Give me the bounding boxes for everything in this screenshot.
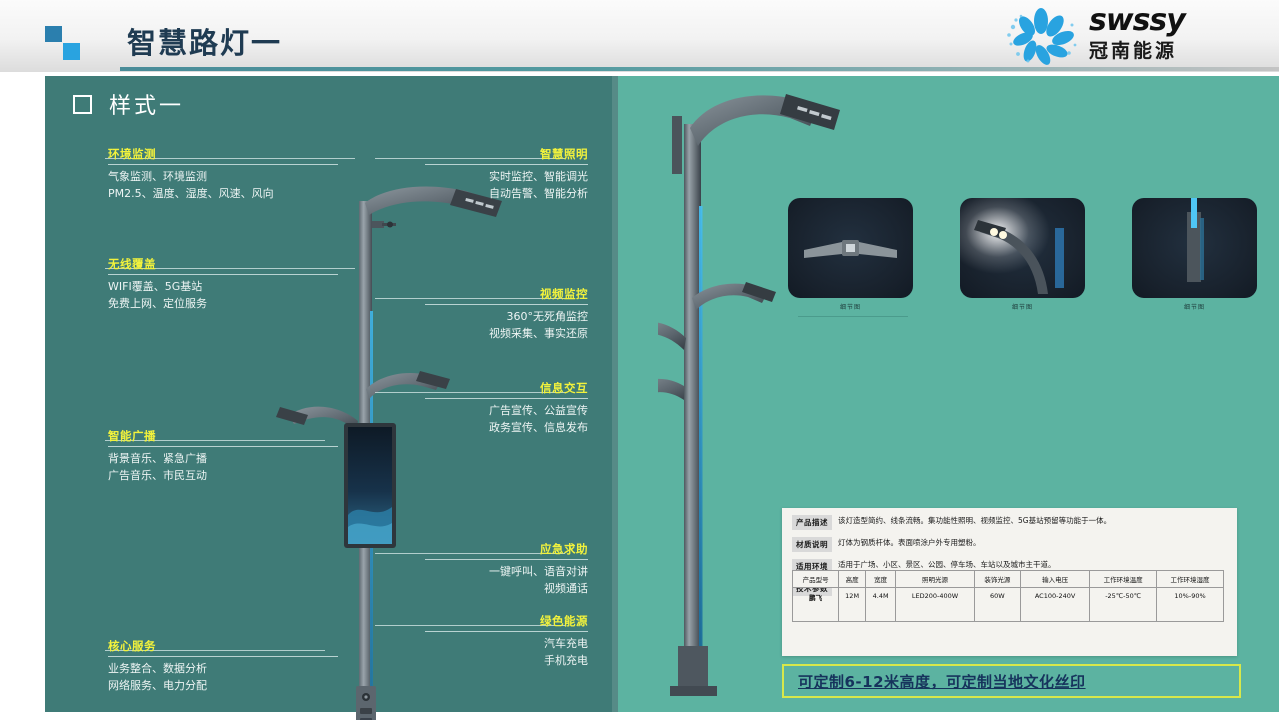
callout-body: 气象监测、环境监测 PM2.5、温度、湿度、风速、风向: [108, 168, 338, 202]
thumbnail-caption-2: 细节图: [960, 302, 1085, 311]
callout-rule: [425, 164, 588, 165]
callout-rule: [425, 398, 588, 399]
callout-line: 360°无死角监控: [425, 308, 588, 325]
callout-body: 实时监控、智能调光 自动告警、智能分析: [425, 168, 588, 202]
callout-emergency-help[interactable]: 应急求助 一键呼叫、语音对讲 视频通话: [425, 541, 588, 597]
callout-rule: [425, 559, 588, 560]
callout-line: 业务整合、数据分析: [108, 660, 338, 677]
thumbnail-image-1[interactable]: [788, 198, 913, 298]
callout-core-service[interactable]: 核心服务 业务整合、数据分析 网络服务、电力分配: [108, 638, 338, 694]
decor-square-2: [63, 43, 80, 60]
table-header-cell: 输入电压: [1020, 571, 1089, 588]
callout-line: 免费上网、定位服务: [108, 295, 338, 312]
table-cell-decor-light: 60W: [974, 588, 1020, 622]
callout-line: 实时监控、智能调光: [425, 168, 588, 185]
table-header-cell: 宽度: [866, 571, 896, 588]
callout-rule: [108, 274, 338, 275]
callout-line: 一键呼叫、语音对讲: [425, 563, 588, 580]
callout-line: WIFI覆盖、5G基站: [108, 278, 338, 295]
callout-title: 环境监测: [108, 146, 338, 162]
table-cell-voltage: AC100-240V: [1020, 588, 1089, 622]
table-cell-temperature: -25℃-50℃: [1090, 588, 1157, 622]
callout-title: 无线覆盖: [108, 256, 338, 272]
thumbnail-image-2[interactable]: [960, 198, 1085, 298]
callout-title: 核心服务: [108, 638, 338, 654]
callout-body: 广告宣传、公益宣传 政务宣传、信息发布: [425, 402, 588, 436]
square-bullet-icon: [73, 95, 92, 114]
callout-body: 背景音乐、紧急广播 广告音乐、市民互动: [108, 450, 338, 484]
page-title: 智慧路灯一: [127, 20, 282, 62]
decor-square-1: [45, 26, 62, 42]
thumbnail-caption-3: 细节图: [1132, 302, 1257, 311]
spec-row-material: 材质说明 灯体为钢质杆体。表面喷涂户外专用塑粉。: [792, 537, 1237, 552]
callout-title: 应急求助: [425, 541, 588, 557]
spec-text: 灯体为钢质杆体。表面喷涂户外专用塑粉。: [838, 537, 981, 548]
callout-line: 广告宣传、公益宣传: [425, 402, 588, 419]
callout-line: 手机充电: [425, 652, 588, 669]
table-cell-width: 4.4M: [866, 588, 896, 622]
callout-title: 信息交互: [425, 380, 588, 396]
callout-title: 智能广播: [108, 428, 338, 444]
spec-text: 该灯造型简约、线条流畅。集功能性照明、视频监控、5G基站预留等功能于一体。: [838, 515, 1111, 526]
callout-body: 业务整合、数据分析 网络服务、电力分配: [108, 660, 338, 694]
logo-droplet-icon: [997, 7, 1085, 65]
callout-line: 自动告警、智能分析: [425, 185, 588, 202]
table-header-cell: 工作环境湿度: [1157, 571, 1224, 588]
left-panel: 样式一: [45, 76, 618, 712]
header-decoration-squares: [45, 26, 89, 60]
spec-row-description: 产品描述 该灯造型简约、线条流畅。集功能性照明、视频监控、5G基站预留等功能于一…: [792, 515, 1237, 530]
callout-line: 背景音乐、紧急广播: [108, 450, 338, 467]
slide-root: 智慧路灯一: [0, 0, 1279, 720]
section-title: 样式一: [109, 88, 184, 120]
callout-wireless-coverage[interactable]: 无线覆盖 WIFI覆盖、5G基站 免费上网、定位服务: [108, 256, 338, 312]
callout-line: 气象监测、环境监测: [108, 168, 338, 185]
detail-thumbnails: 细节图 细节图 细节图: [788, 198, 1258, 308]
table-header-cell: 装饰光源: [974, 571, 1020, 588]
callout-line: 汽车充电: [425, 635, 588, 652]
thumbnail-caption-1: 细节图: [788, 302, 913, 311]
callout-rule: [108, 656, 338, 657]
specification-table: 产品型号 高度 宽度 照明光源 装饰光源 输入电压 工作环境温度 工作环境湿度 …: [792, 570, 1224, 622]
logo-text-block: swssy 冠南能源: [1089, 6, 1185, 64]
specification-card: 产品描述 该灯造型简约、线条流畅。集功能性照明、视频监控、5G基站预留等功能于一…: [782, 508, 1237, 656]
table-header-cell: 高度: [839, 571, 866, 588]
table-cell-humidity: 10%-90%: [1157, 588, 1224, 622]
callout-title: 绿色能源: [425, 613, 588, 629]
callout-video-surveillance[interactable]: 视频监控 360°无死角监控 视频采集、事实还原: [425, 286, 588, 342]
callout-line: 广告音乐、市民互动: [108, 467, 338, 484]
spec-text: 适用于广场、小区、景区、公园、停车场、车站以及城市主干道。: [838, 559, 1056, 570]
callout-rule: [108, 446, 338, 447]
spec-tag: 产品描述: [792, 515, 832, 530]
table-header-row: 产品型号 高度 宽度 照明光源 装饰光源 输入电压 工作环境温度 工作环境湿度: [793, 571, 1224, 588]
table-cell-height: 12M: [839, 588, 866, 622]
logo-brand-name: swssy: [1089, 6, 1185, 36]
callout-title: 视频监控: [425, 286, 588, 302]
callout-line: 视频采集、事实还原: [425, 325, 588, 342]
callout-body: 360°无死角监控 视频采集、事实还原: [425, 308, 588, 342]
callout-smart-broadcast[interactable]: 智能广播 背景音乐、紧急广播 广告音乐、市民互动: [108, 428, 338, 484]
customization-note: 可定制6-12米高度，可定制当地文化丝印: [782, 664, 1241, 698]
callout-line: 网络服务、电力分配: [108, 677, 338, 694]
company-logo: swssy 冠南能源: [997, 4, 1267, 68]
callout-information-interaction[interactable]: 信息交互 广告宣传、公益宣传 政务宣传、信息发布: [425, 380, 588, 436]
table-row: 鹏飞 12M 4.4M LED200-400W 60W AC100-240V -…: [793, 588, 1224, 622]
table-cell-light-source: LED200-400W: [896, 588, 975, 622]
table-cell-model: 鹏飞: [793, 588, 839, 622]
thumbnail-image-3[interactable]: [1132, 198, 1257, 298]
customization-note-text: 可定制6-12米高度，可定制当地文化丝印: [798, 671, 1086, 692]
table-header-cell: 工作环境温度: [1090, 571, 1157, 588]
callout-body: WIFI覆盖、5G基站 免费上网、定位服务: [108, 278, 338, 312]
table-header-cell: 照明光源: [896, 571, 975, 588]
thumbnail-underline: [798, 316, 908, 317]
spec-tag: 材质说明: [792, 537, 832, 552]
callout-line: PM2.5、温度、湿度、风速、风向: [108, 185, 338, 202]
callout-rule: [425, 631, 588, 632]
callout-rule: [108, 164, 338, 165]
callout-body: 汽车充电 手机充电: [425, 635, 588, 669]
section-header: 样式一: [73, 88, 184, 120]
callout-line: 政务宣传、信息发布: [425, 419, 588, 436]
callout-environment-monitoring[interactable]: 环境监测 气象监测、环境监测 PM2.5、温度、湿度、风速、风向: [108, 146, 338, 202]
table-header-cell: 产品型号: [793, 571, 839, 588]
slide-header: 智慧路灯一: [0, 0, 1279, 72]
callout-green-energy[interactable]: 绿色能源 汽车充电 手机充电: [425, 613, 588, 669]
callout-rule: [425, 304, 588, 305]
callout-body: 一键呼叫、语音对讲 视频通话: [425, 563, 588, 597]
callout-smart-lighting[interactable]: 智慧照明 实时监控、智能调光 自动告警、智能分析: [425, 146, 588, 202]
right-panel: 细节图 细节图 细节图 产品描述 该灯造型简约、线条流畅。集功能性照明、视频监控…: [618, 76, 1279, 712]
callout-title: 智慧照明: [425, 146, 588, 162]
logo-company-name: 冠南能源: [1089, 38, 1185, 64]
callout-line: 视频通话: [425, 580, 588, 597]
